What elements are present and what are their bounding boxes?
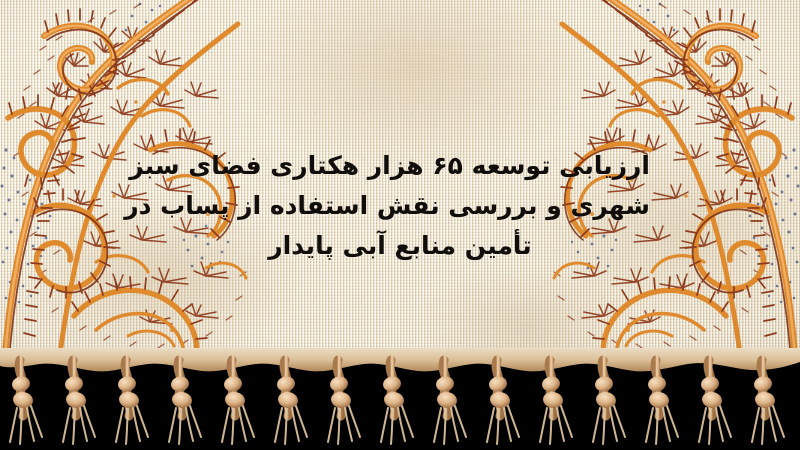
title-card-canvas: ارزیابی توسعه ۶۵ هزار هکتاری فضای سبز شه…	[0, 0, 800, 450]
title-line-2: شهری و بررسی نقش استفاده از پساب در	[150, 186, 650, 226]
page-title: ارزیابی توسعه ۶۵ هزار هکتاری فضای سبز شه…	[150, 146, 650, 266]
tassel-group	[10, 360, 784, 444]
title-line-3: تأمین منابع آبی پایدار	[150, 226, 650, 266]
title-line-1: ارزیابی توسعه ۶۵ هزار هکتاری فضای سبز	[150, 146, 650, 186]
fabric-hem-shadow	[0, 352, 800, 372]
